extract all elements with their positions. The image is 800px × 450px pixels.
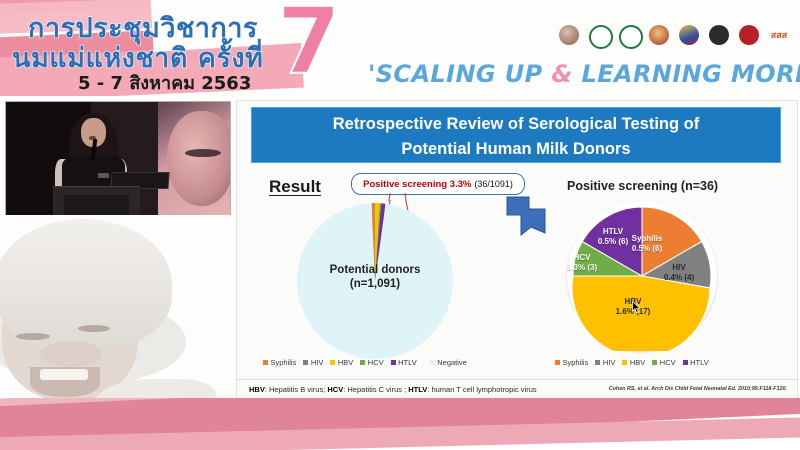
baby-teeth: [40, 369, 88, 380]
callout-fraction-text: (36/1091): [474, 179, 513, 189]
pie-label-hcv-value: 0.3% (3): [567, 263, 597, 272]
mouse-cursor-icon: [632, 301, 641, 314]
slide-footer-abbreviations: HBV: Hepatitis B virus; HCV: Hepatitis C…: [249, 385, 537, 394]
pie-left-center-label-line2: (n=1,091): [297, 278, 453, 290]
legend-swatch-hbv-right: [622, 360, 627, 365]
pie-left-center-label-line1: Potential donors: [297, 264, 453, 276]
logo-ministry-health: [588, 24, 612, 50]
conference-tagline: 'SCALING UP & LEARNING MORE': [368, 60, 800, 88]
abbr-htlv-val: : human T cell lymphotropic virus: [427, 385, 536, 394]
legend-item-hiv-right: HIV: [595, 358, 615, 367]
legend-swatch-hiv-right: [595, 360, 600, 365]
legend-swatch-htlv-right: [683, 360, 688, 365]
speaker-badge: [98, 173, 109, 178]
pie-label-hcv: HCV 0.3% (3): [561, 253, 603, 273]
legend-item-hbv-right: HBV: [622, 358, 645, 367]
legend-label-hiv-right: HIV: [603, 358, 616, 367]
video-projected-face: [167, 111, 231, 206]
tagline-ampersand: &: [551, 60, 572, 88]
speaker-video-feed[interactable]: [5, 101, 231, 216]
legend-item-htlv-right: HTLV: [683, 358, 709, 367]
slide-title-bar: Retrospective Review of Serological Test…: [251, 107, 781, 163]
logo-thaihealth: สสส: [768, 24, 792, 50]
pie-label-htlv-value: 0.5% (6): [598, 237, 628, 246]
legend-item-hcv: HCV: [360, 358, 383, 367]
abbr-hcv-val: : Hepatitis C virus ;: [343, 385, 408, 394]
logo-thai-breastfeeding: [558, 24, 582, 50]
slide-presentation-screenshot: การประชุมวิชาการ นมแม่แห่งชาติ ครั้งที่ …: [0, 0, 800, 450]
callout-percentage-text: Positive screening 3.3%: [363, 179, 471, 190]
legend-item-negative: Negative: [430, 358, 467, 367]
legend-label-hcv-right: HCV: [660, 358, 676, 367]
pie-label-hiv: HIV 0.4% (4): [655, 263, 703, 283]
result-section-label: Result: [269, 177, 321, 197]
pie-label-hiv-value: 0.4% (4): [664, 273, 694, 282]
logo-university: [708, 24, 732, 50]
legend-label-hbv-right: HBV: [630, 358, 645, 367]
legend-item-htlv: HTLV: [391, 358, 417, 367]
sponsor-logos-row: สสส: [558, 24, 792, 50]
legend-swatch-hcv-right: [652, 360, 657, 365]
abbr-hbv-key: HBV: [249, 385, 265, 394]
transition-arrow-icon: [505, 193, 549, 237]
abbr-htlv-key: HTLV: [408, 385, 427, 394]
legend-item-hbv: HBV: [330, 358, 353, 367]
tagline-part-1: 'SCALING UP: [368, 60, 551, 88]
legend-label-negative: Negative: [437, 358, 467, 367]
legend-swatch-negative: [430, 360, 435, 365]
legend-label-syphilis: Syphilis: [271, 358, 297, 367]
conference-header-banner: การประชุมวิชาการ นมแม่แห่งชาติ ครั้งที่ …: [0, 0, 800, 96]
legend-label-htlv: HTLV: [398, 358, 417, 367]
legend-swatch-syphilis-right: [555, 360, 560, 365]
legend-swatch-syphilis: [263, 360, 268, 365]
podium-front-panel: [64, 195, 129, 215]
legend-item-hiv: HIV: [303, 358, 323, 367]
baby-eye-right: [78, 325, 110, 332]
slide-footer-citation: Cohen RS, et al. Arch Dis Child Fetal Ne…: [609, 386, 787, 392]
pie-right-title: Positive screening (n=36): [567, 179, 718, 193]
legend-label-hiv: HIV: [311, 358, 324, 367]
pie-right-legend: Syphilis HIV HBV HCV HTLV: [555, 358, 709, 367]
logo-red-seal: [738, 24, 762, 50]
legend-swatch-hcv: [360, 360, 365, 365]
presentation-slide: Retrospective Review of Serological Test…: [236, 100, 798, 402]
logo-royal-crown: [678, 24, 702, 50]
legend-item-syphilis-right: Syphilis: [555, 358, 588, 367]
pie-label-hiv-name: HIV: [672, 263, 685, 272]
logo-royal-emblem: [648, 24, 672, 50]
legend-label-htlv-right: HTLV: [690, 358, 709, 367]
pie-label-htlv-name: HTLV: [603, 227, 623, 236]
legend-label-syphilis-right: Syphilis: [563, 358, 589, 367]
pie-label-hcv-name: HCV: [574, 253, 591, 262]
tagline-part-2: LEARNING MORE': [573, 60, 800, 88]
logo-public-health: [618, 24, 642, 50]
baby-cheeks: [40, 341, 102, 367]
pie-label-htlv: HTLV 0.5% (6): [589, 227, 637, 247]
legend-swatch-htlv: [391, 360, 396, 365]
positive-screening-callout: Positive screening 3.3% (36/1091): [351, 173, 525, 195]
legend-item-syphilis: Syphilis: [263, 358, 296, 367]
conference-date-thai: 5 - 7 สิงหาคม 2563: [78, 68, 251, 96]
legend-label-hbv: HBV: [338, 358, 353, 367]
slide-title-line-1: Retrospective Review of Serological Test…: [252, 112, 780, 137]
baby-smile: [30, 367, 100, 397]
conference-edition-number: 7: [277, 0, 341, 88]
abbr-hbv-val: : Hepatitis B virus;: [265, 385, 328, 394]
legend-item-hcv-right: HCV: [652, 358, 675, 367]
bottom-pink-banner: [0, 398, 800, 450]
slide-title-line-2: Potential Human Milk Donors: [252, 137, 780, 162]
legend-swatch-hbv: [330, 360, 335, 365]
baby-eye-left: [16, 333, 50, 340]
legend-label-hcv: HCV: [368, 358, 384, 367]
legend-swatch-hiv: [303, 360, 308, 365]
abbr-hcv-key: HCV: [327, 385, 343, 394]
pie-left-legend: Syphilis HIV HBV HCV HTLV Negative: [263, 358, 467, 367]
